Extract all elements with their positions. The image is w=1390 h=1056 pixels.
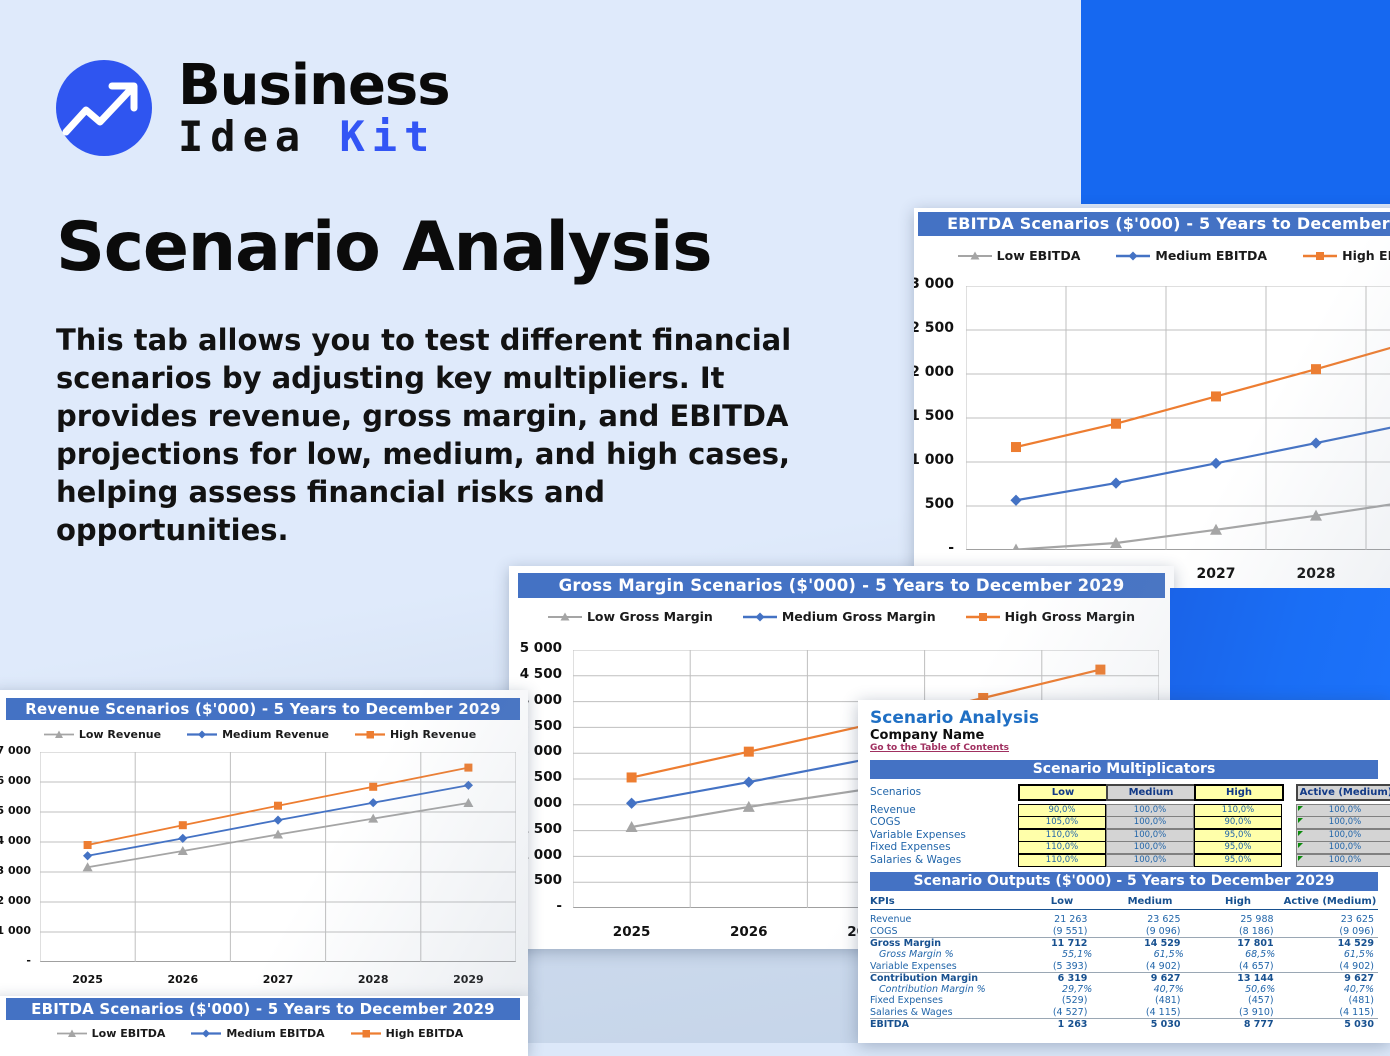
data-point-marker [743,776,754,787]
data-point-marker [369,798,378,807]
outputs-cell-low: 21 263 [1006,914,1099,925]
x-axis-tick-label: 2025 [48,973,128,986]
multiplicators-row-label: Salaries & Wages [870,854,961,866]
legend-item-low: Low Revenue [44,728,161,741]
outputs-cell-medium: 5 030 [1099,1018,1192,1030]
outputs-cell-active: (481) [1286,995,1378,1006]
page-title: Scenario Analysis [56,208,711,287]
chart-legend-ebitda-top: Low EBITDA Medium EBITDA High EBITDA [914,248,1390,263]
y-axis-tick-label: - [914,540,954,556]
outputs-cell-active: 5 030 [1286,1018,1378,1030]
outputs-cell-low: (5 393) [1006,961,1099,972]
x-axis-tick-label: 2028 [1276,566,1356,582]
multiplicators-active-cell: 100,0% [1296,841,1390,854]
plot-area-ebitda-top: -5001 0001 5002 0002 5003 00020252026202… [966,286,1390,550]
legend-item-medium: Medium EBITDA [1116,248,1267,263]
multiplicators-cell[interactable]: 95,0% [1194,854,1282,867]
x-axis-tick-label: 2029 [1376,566,1390,582]
chart-title-gross-margin: Gross Margin Scenarios ($'000) - 5 Years… [518,573,1165,598]
multiplicators-cell[interactable]: 110,0% [1018,854,1106,867]
scenario-outputs-band: Scenario Outputs ($'000) - 5 Years to De… [870,872,1378,891]
outputs-cell-medium: 9 627 [1099,972,1192,984]
outputs-row-label: EBITDA [870,1018,1006,1030]
outputs-cell-high: 25 988 [1193,914,1286,925]
outputs-cell-low: 29,7% [1013,984,1105,995]
x-axis-tick-label: 2028 [333,973,413,986]
legend-label: Medium Revenue [222,728,329,741]
outputs-cell-medium: 40,7% [1104,984,1196,995]
y-axis-tick-label: 1 000 [0,924,31,937]
legend-label: Low Revenue [79,728,161,741]
plot-area-revenue: -1 0002 0003 0004 0005 0006 0007 0002025… [40,752,516,962]
multiplicators-row-label: Fixed Expenses [870,841,951,853]
legend-marker-square-icon [1303,250,1337,262]
ebitda-scenarios-chart-card-bottom: EBITDA Scenarios ($'000) - 5 Years to De… [0,996,528,1056]
outputs-row-label: Gross Margin [870,937,1006,949]
y-axis-tick-label: 3 000 [914,276,954,292]
legend-marker-square-icon [355,729,385,740]
outputs-row-label: Gross Margin % [870,949,1013,960]
data-point-marker [1111,419,1121,429]
outputs-cell-medium: 61,5% [1104,949,1196,960]
outputs-row: EBITDA 1 263 5 030 8 777 5 030 [870,1018,1378,1030]
data-point-marker [464,764,472,772]
outputs-row: Contribution Margin 6 319 9 627 13 144 9… [870,972,1378,984]
scenario-multiplicators-band: Scenario Multiplicators [870,760,1378,779]
outputs-cell-high: 17 801 [1193,937,1286,949]
outputs-cell-high: (457) [1193,995,1286,1006]
data-point-marker [179,821,187,829]
decorative-blue-block-top [1081,0,1390,204]
outputs-cell-low: (9 551) [1006,926,1099,937]
outputs-col-medium: Medium [1106,896,1194,910]
legend-item-high: High Gross Margin [966,609,1135,624]
legend-marker-triangle-icon [44,729,74,740]
decorative-blue-block-middle [1170,588,1390,700]
legend-marker-diamond-icon [191,1028,221,1039]
legend-label: High Gross Margin [1005,609,1135,624]
multiplicators-cell[interactable]: 100,0% [1106,841,1194,854]
y-axis-tick-label: 7 000 [0,744,31,757]
outputs-cell-active: 61,5% [1287,949,1378,960]
y-axis-tick-label: 2 500 [914,320,954,336]
outputs-cell-active: 9 627 [1286,972,1378,984]
page-description: This tab allows you to test different fi… [56,322,846,550]
brand-line-2-dark: Idea [178,112,339,161]
sheet-heading: Scenario Analysis [870,708,1039,728]
legend-label: Low EBITDA [997,248,1081,263]
y-axis-tick-label: 4 500 [509,666,562,682]
chart-legend-ebitda-bottom: Low EBITDA Medium EBITDA High EBITDA [0,1027,528,1040]
chart-svg-revenue [40,752,516,962]
multiplicators-active-cell: 100,0% [1296,816,1390,829]
outputs-cell-high: (3 910) [1193,1007,1286,1018]
multiplicators-cell[interactable]: 90,0% [1018,804,1106,817]
legend-label: High Revenue [390,728,476,741]
scenario-analysis-sheet-panel: Scenario Analysis Company Name Go to the… [858,700,1390,1043]
brand-logo: Business Idea Kit [56,58,450,158]
multiplicators-cell[interactable]: 110,0% [1194,804,1282,817]
chart-title-ebitda-bottom: EBITDA Scenarios ($'000) - 5 Years to De… [6,998,520,1020]
data-point-marker [274,802,282,810]
data-point-marker [1010,495,1021,506]
outputs-cell-active: 23 625 [1286,914,1378,925]
legend-marker-triangle-icon [57,1028,87,1039]
data-point-marker [1211,391,1221,401]
data-point-marker [83,851,92,860]
outputs-cell-low: (4 527) [1006,1007,1099,1018]
data-point-marker [626,798,637,809]
legend-item-medium: Medium Revenue [187,728,329,741]
y-axis-tick-label: 2 000 [914,364,954,380]
data-point-marker [1311,364,1321,374]
data-point-marker [1110,478,1121,489]
legend-marker-diamond-icon [187,729,217,740]
multiplicators-active-cell: 100,0% [1296,804,1390,817]
data-point-marker [84,841,92,849]
x-axis-tick-label: 2026 [709,924,789,940]
legend-marker-triangle-icon [548,611,582,623]
outputs-row: Gross Margin % 55,1% 61,5% 68,5% 61,5% [870,949,1378,961]
series-line-high-ebitda [1016,341,1390,447]
scenario-outputs-table: KPIs Low Medium High Active (Medium) Rev… [870,896,1378,1030]
multiplicators-cell[interactable]: 110,0% [1018,841,1106,854]
legend-item-low: Low Gross Margin [548,609,713,624]
multiplicators-active-cell: 100,0% [1296,854,1390,867]
outputs-cell-low: 55,1% [1013,949,1105,960]
multiplicators-column-header: Medium [1106,784,1196,801]
legend-marker-diamond-icon [1116,250,1150,262]
outputs-row: Variable Expenses (5 393) (4 902) (4 657… [870,960,1378,972]
outputs-row: COGS (9 551) (9 096) (8 186) (9 096) [870,926,1378,938]
data-point-marker [1210,458,1221,469]
y-axis-tick-label: 2 000 [0,894,31,907]
brand-line-2-accent: Kit [339,112,436,161]
y-axis-tick-label: - [0,954,31,967]
outputs-header-row: KPIs Low Medium High Active (Medium) [870,896,1378,910]
revenue-scenarios-chart-card: Revenue Scenarios ($'000) - 5 Years to D… [0,690,528,996]
legend-label: Medium Gross Margin [782,609,936,624]
outputs-row-label: Contribution Margin % [870,984,1013,995]
outputs-cell-active: (9 096) [1286,926,1378,937]
multiplicators-cell[interactable]: 110,0% [1018,829,1106,842]
multiplicators-row-label: COGS [870,816,900,828]
outputs-cell-low: 11 712 [1006,937,1099,949]
multiplicators-active-column-header: Active (Medium) [1296,784,1390,801]
legend-item-low: Low EBITDA [57,1027,166,1040]
x-axis-tick-label: 2026 [143,973,223,986]
multiplicators-row-label: Variable Expenses [870,829,966,841]
multiplicators-cell[interactable]: 105,0% [1018,816,1106,829]
brand-line-2: Idea Kit [178,116,450,158]
legend-item-low: Low EBITDA [958,248,1081,263]
data-point-marker [369,783,377,791]
data-point-marker [463,798,473,807]
outputs-cell-active: 40,7% [1287,984,1378,995]
outputs-cell-medium: 23 625 [1099,914,1192,925]
outputs-cell-medium: (4 115) [1099,1007,1192,1018]
y-axis-tick-label: 3 000 [0,864,31,877]
legend-item-high: High EBITDA [351,1027,464,1040]
legend-label: Medium EBITDA [1155,248,1267,263]
outputs-cell-medium: (481) [1099,995,1192,1006]
multiplicators-column-header: Low [1018,784,1108,801]
multiplicators-active-cell: 100,0% [1296,829,1390,842]
outputs-row: Gross Margin 11 712 14 529 17 801 14 529 [870,937,1378,949]
chart-title-revenue: Revenue Scenarios ($'000) - 5 Years to D… [6,698,520,720]
outputs-row-label: Contribution Margin [870,972,1006,984]
legend-marker-triangle-icon [958,250,992,262]
legend-label: High EBITDA [386,1027,464,1040]
outputs-cell-medium: (9 096) [1099,926,1192,937]
multiplicators-row-header: Scenarios [870,786,921,798]
y-axis-tick-label: 4 000 [0,834,31,847]
y-axis-tick-label: 1 500 [914,408,954,424]
legend-label: Medium EBITDA [226,1027,324,1040]
data-point-marker [744,747,754,757]
x-axis-tick-label: 2027 [1176,566,1256,582]
multiplicators-cell[interactable]: 95,0% [1194,829,1282,842]
outputs-cell-high: (4 657) [1193,961,1286,972]
legend-label: High EBITDA [1342,248,1390,263]
chart-title-ebitda-top: EBITDA Scenarios ($'000) - 5 Years to De… [918,212,1390,236]
outputs-cell-low: (529) [1006,995,1099,1006]
outputs-col-kpis: KPIs [870,896,1018,910]
outputs-row-label: Salaries & Wages [870,1007,1006,1018]
sheet-company-name: Company Name [870,728,984,743]
chart-svg-ebitda_top [966,286,1390,550]
y-axis-tick-label: 5 000 [0,804,31,817]
multiplicators-cell[interactable]: 95,0% [1194,841,1282,854]
outputs-cell-high: 50,6% [1196,984,1288,995]
outputs-cell-high: 68,5% [1196,949,1288,960]
chart-legend-revenue: Low Revenue Medium Revenue High Revenue [0,728,528,741]
outputs-cell-active: 14 529 [1286,937,1378,949]
legend-item-high: High Revenue [355,728,476,741]
y-axis-tick-label: 500 [914,496,954,512]
scenario-multiplicators-table: ScenariosLowMediumHighActive (Medium)Rev… [870,784,1378,868]
y-axis-tick-label: 5 000 [509,640,562,656]
outputs-cell-low: 6 319 [1006,972,1099,984]
outputs-row-label: COGS [870,926,1006,937]
multiplicators-cell[interactable]: 100,0% [1106,854,1194,867]
data-point-marker [273,816,282,825]
multiplicators-row-label: Revenue [870,804,916,816]
y-axis-tick-label: 1 000 [914,452,954,468]
brand-wordmark: Business Idea Kit [178,58,450,158]
outputs-cell-medium: (4 902) [1099,961,1192,972]
multiplicators-cell[interactable]: 100,0% [1106,829,1194,842]
data-point-marker [1095,665,1105,675]
series-line-low-ebitda [1016,501,1390,550]
outputs-row: Salaries & Wages (4 527) (4 115) (3 910)… [870,1007,1378,1019]
ebitda-scenarios-chart-card-top: EBITDA Scenarios ($'000) - 5 Years to De… [914,208,1390,588]
outputs-row-label: Variable Expenses [870,961,1006,972]
outputs-col-active: Active (Medium) [1282,896,1378,910]
x-axis-tick-label: 2025 [592,924,672,940]
x-axis-tick-label: 2029 [428,973,508,986]
legend-item-medium: Medium Gross Margin [743,609,936,624]
table-of-contents-link[interactable]: Go to the Table of Contents [870,743,1009,753]
legend-marker-diamond-icon [743,611,777,623]
legend-marker-square-icon [966,611,1000,623]
outputs-cell-high: 8 777 [1193,1018,1286,1030]
multiplicators-cell[interactable]: 100,0% [1106,804,1194,817]
legend-item-medium: Medium EBITDA [191,1027,324,1040]
outputs-row: Contribution Margin % 29,7% 40,7% 50,6% … [870,984,1378,996]
legend-item-high: High EBITDA [1303,248,1390,263]
outputs-cell-medium: 14 529 [1099,937,1192,949]
multiplicators-cell[interactable]: 100,0% [1106,816,1194,829]
x-axis-tick-label: 2027 [238,973,318,986]
outputs-col-low: Low [1018,896,1106,910]
outputs-row: Revenue 21 263 23 625 25 988 23 625 [870,914,1378,926]
data-point-marker [1011,442,1021,452]
brand-line-1: Business [178,58,450,114]
outputs-cell-active: (4 902) [1286,961,1378,972]
legend-marker-square-icon [351,1028,381,1039]
y-axis-tick-label: 6 000 [0,774,31,787]
legend-label: Low EBITDA [92,1027,166,1040]
chart-legend-gross-margin: Low Gross Margin Medium Gross Margin Hig… [509,609,1174,624]
outputs-row: Fixed Expenses (529) (481) (457) (481) [870,995,1378,1007]
outputs-cell-active: (4 115) [1286,1007,1378,1018]
outputs-cell-high: (8 186) [1193,926,1286,937]
multiplicators-column-header: High [1194,784,1284,801]
data-point-marker [627,772,637,782]
outputs-cell-high: 13 144 [1193,972,1286,984]
outputs-col-high: High [1194,896,1282,910]
legend-label: Low Gross Margin [587,609,713,624]
growth-arrow-icon [56,60,152,156]
outputs-row-label: Fixed Expenses [870,995,1006,1006]
outputs-row-label: Revenue [870,914,1006,925]
multiplicators-cell[interactable]: 90,0% [1194,816,1282,829]
data-point-marker [1310,437,1321,448]
outputs-cell-low: 1 263 [1006,1018,1099,1030]
